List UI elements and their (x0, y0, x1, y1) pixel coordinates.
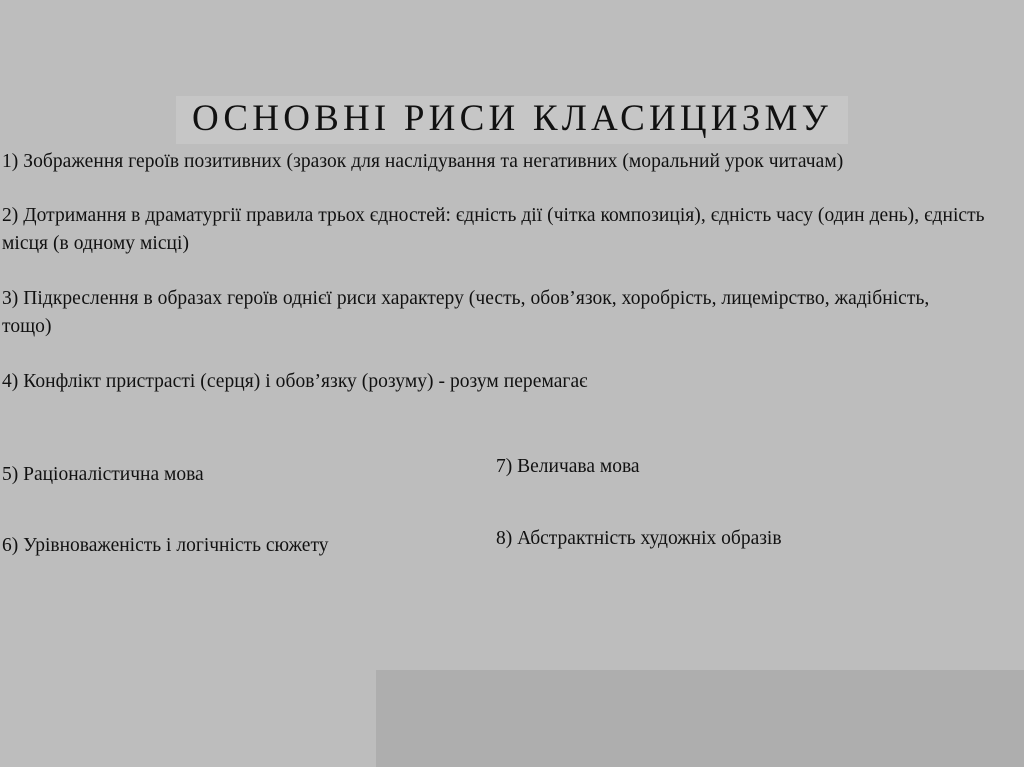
page-title: ОСНОВНІ РИСИ КЛАСИЦИЗМУ (176, 96, 848, 144)
list-item: 4) Конфлікт пристрасті (серця) і обов’яз… (2, 368, 1020, 396)
left-column: 5) Раціоналістична мова 6) Урівноваженіс… (2, 462, 472, 559)
list-item: 7) Величава мова (496, 454, 1016, 480)
list-item: 8) Абстрактність художніх образів (496, 526, 1016, 552)
list-item: 6) Урівноваженість і логічність сюжету (2, 533, 472, 559)
slide-title-container: ОСНОВНІ РИСИ КЛАСИЦИЗМУ (0, 96, 1024, 144)
slide-canvas: ОСНОВНІ РИСИ КЛАСИЦИЗМУ 1) Зображення ге… (0, 0, 1024, 767)
bottom-shade-panel (376, 670, 1024, 767)
list-item: 1) Зображення героїв позитивних (зразок … (2, 148, 1020, 176)
slide-body: 1) Зображення героїв позитивних (зразок … (2, 148, 1022, 396)
list-item: 3) Підкреслення в образах героїв однієї … (2, 285, 962, 341)
list-item: 2) Дотримання в драматургії правила трьо… (2, 202, 1020, 258)
two-column-region: 5) Раціоналістична мова 6) Урівноваженіс… (0, 462, 1024, 572)
list-item: 5) Раціоналістична мова (2, 462, 472, 488)
right-column: 7) Величава мова 8) Абстрактність художн… (496, 454, 1016, 552)
